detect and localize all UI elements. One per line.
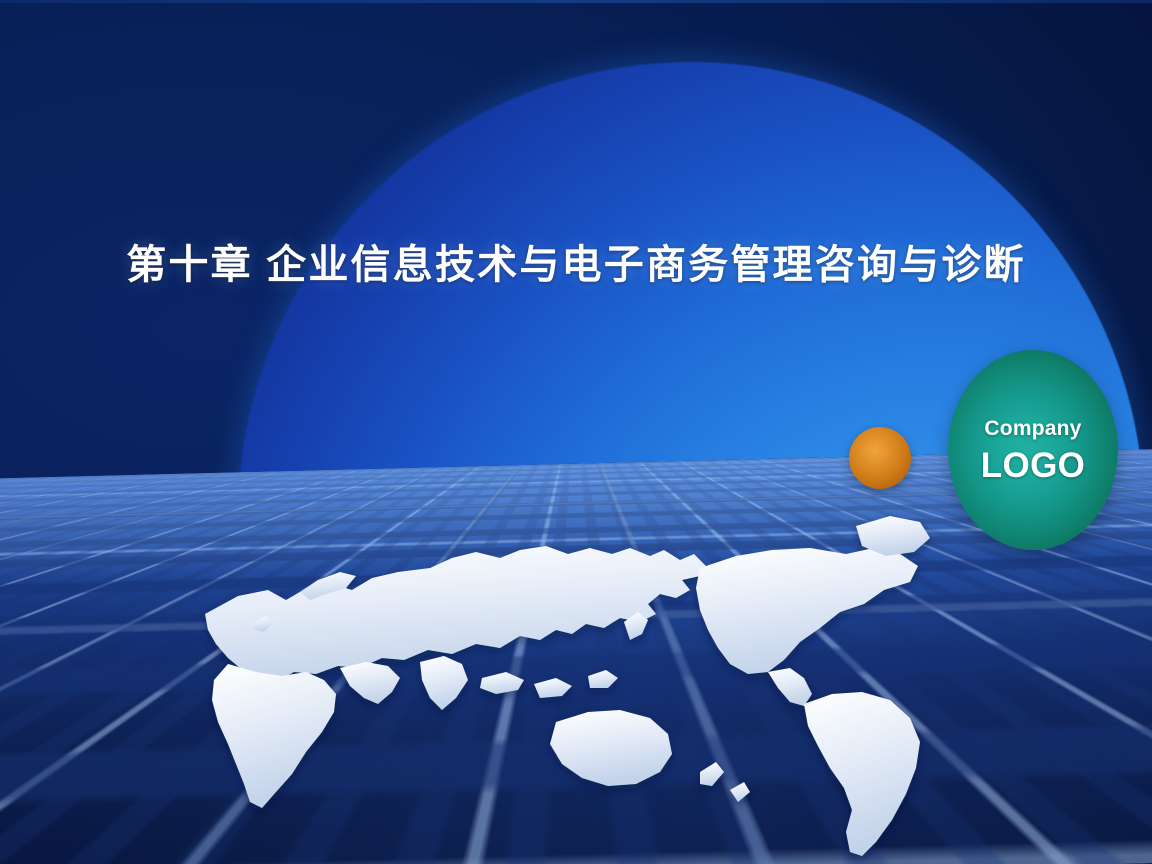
top-edge-line — [0, 0, 1152, 3]
orange-accent-ball-icon — [849, 427, 911, 489]
logo-word-label: LOGO — [981, 448, 1085, 483]
presentation-slide: 第十章 企业信息技术与电子商务管理咨询与诊断 Company LOGO — [0, 0, 1152, 864]
company-logo-text: Company LOGO — [948, 350, 1118, 550]
page-title: 第十章 企业信息技术与电子商务管理咨询与诊断 — [0, 232, 1152, 290]
logo-company-label: Company — [984, 418, 1081, 439]
